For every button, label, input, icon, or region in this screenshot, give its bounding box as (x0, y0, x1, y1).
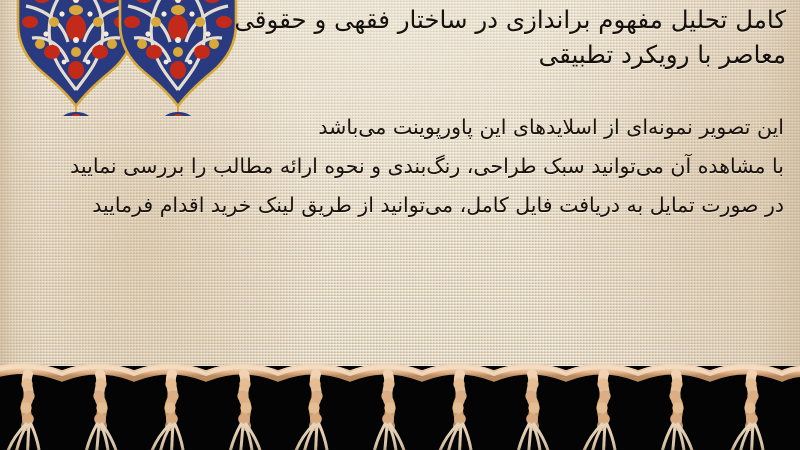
slide-title: کامل تحلیل مفهوم براندازی در ساختار فقهی… (226, 2, 786, 72)
title-line-1: کامل تحلیل مفهوم براندازی در ساختار فقهی… (226, 2, 786, 37)
slide-body-text: این تصویر نمونه‌ای از اسلایدهای این پاور… (14, 108, 784, 225)
body-line-2: با مشاهده آن می‌توانید سبک طراحی، رنگ‌بن… (14, 147, 784, 186)
slide-canvas: کامل تحلیل مفهوم براندازی در ساختار فقهی… (0, 0, 800, 450)
title-line-2: معاصر با رویکرد تطبیقی (226, 37, 786, 72)
carpet-fringe-tassels (0, 360, 800, 450)
body-line-1: این تصویر نمونه‌ای از اسلایدهای این پاور… (14, 108, 784, 147)
body-line-3: در صورت تمایل به دریافت فایل کامل، می‌تو… (14, 186, 784, 225)
